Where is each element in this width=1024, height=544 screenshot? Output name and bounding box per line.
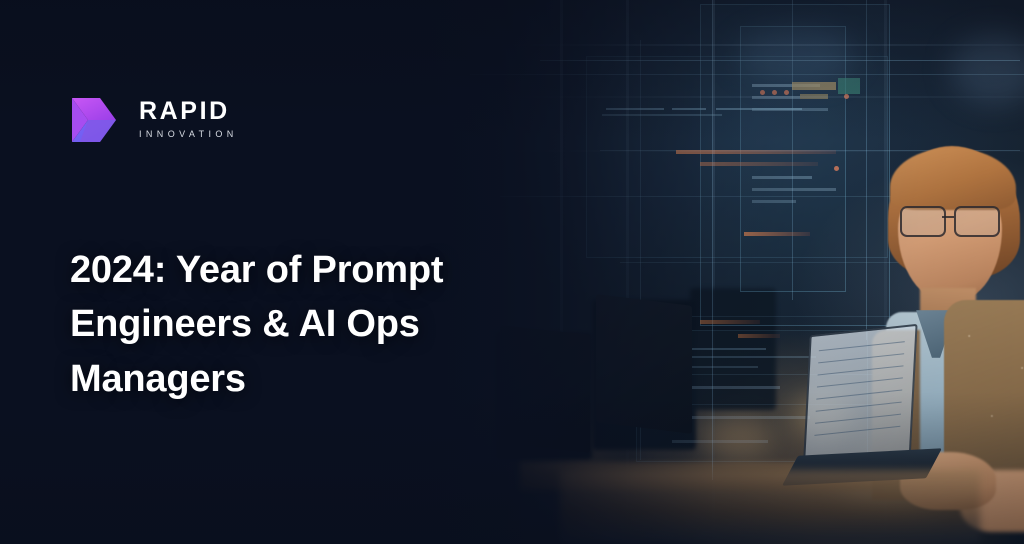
hero-content: RAPID INNOVATION 2024: Year of Prompt En… [0,0,1024,544]
brand-wordmark: RAPID INNOVATION [139,99,238,141]
rapid-innovation-chevron-logo-icon [66,92,122,148]
brand-logo[interactable]: RAPID INNOVATION [66,92,238,148]
page-title: 2024: Year of Prompt Engineers & AI Ops … [70,243,540,406]
brand-tagline: INNOVATION [139,130,238,139]
brand-name: RAPID [139,99,238,124]
hero-banner: RAPID INNOVATION 2024: Year of Prompt En… [0,0,1024,544]
